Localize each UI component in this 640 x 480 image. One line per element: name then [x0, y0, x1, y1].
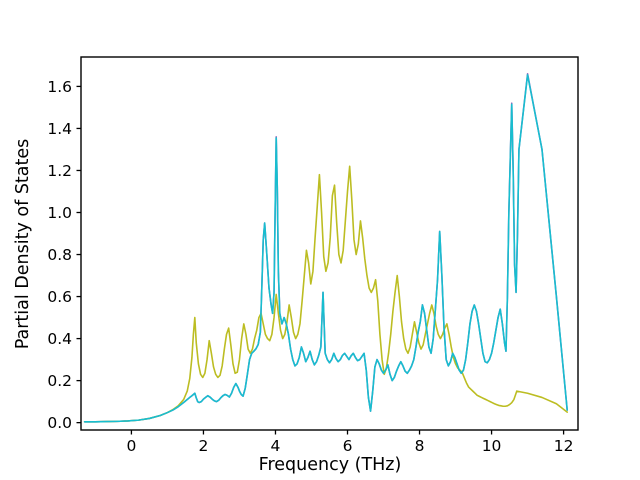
- y-tick-label: 0.0: [47, 414, 72, 432]
- x-tick-label: 0: [126, 437, 136, 455]
- y-tick-label: 1.4: [47, 120, 72, 138]
- y-tick-label: 0.2: [47, 372, 72, 390]
- x-tick-label: 10: [482, 437, 502, 455]
- y-axis-title: Partial Density of States: [13, 139, 33, 350]
- y-tick-label: 1.2: [47, 162, 72, 180]
- figure-background: [0, 0, 640, 480]
- y-tick-label: 0.6: [47, 288, 72, 306]
- x-tick-label: 4: [271, 437, 281, 455]
- y-tick-label: 0.8: [47, 246, 72, 264]
- y-tick-label: 1.6: [47, 78, 72, 96]
- x-tick-label: 8: [415, 437, 425, 455]
- x-tick-label: 2: [199, 437, 209, 455]
- x-tick-label: 12: [554, 437, 574, 455]
- figure-canvas: 0246810120.00.20.40.60.81.01.21.41.6 Fre…: [0, 0, 640, 480]
- y-tick-label: 1.0: [47, 204, 72, 222]
- y-tick-label: 0.4: [47, 330, 72, 348]
- pdos-plot: 0246810120.00.20.40.60.81.01.21.41.6 Fre…: [0, 0, 640, 480]
- x-tick-label: 6: [343, 437, 353, 455]
- x-axis-title: Frequency (THz): [259, 455, 402, 475]
